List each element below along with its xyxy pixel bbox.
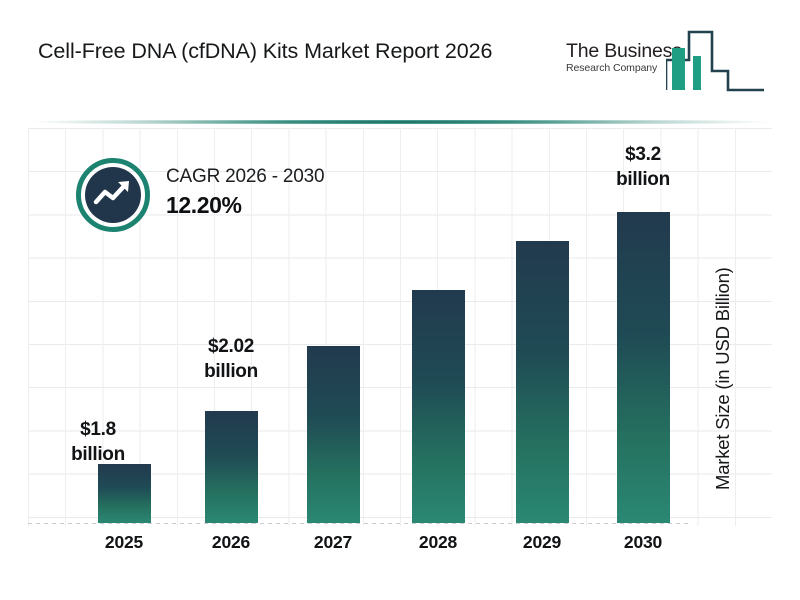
cagr-value-label: 12.20% (166, 190, 324, 220)
bar-fill (98, 464, 151, 523)
bar-value-label: $3.2 billion (588, 142, 698, 192)
bar-value-label-line1: $3.2 (625, 144, 661, 165)
table-row[interactable] (205, 411, 258, 523)
bar-fill (412, 290, 465, 523)
chart-page: Cell-Free DNA (cfDNA) Kits Market Report… (0, 0, 800, 600)
x-axis-tick-2025: 2025 (69, 532, 179, 553)
table-row[interactable] (307, 346, 360, 523)
bar-fill (617, 212, 670, 523)
bar-value-label-line2: billion (204, 361, 258, 382)
bar-value-label-line1: $2.02 (208, 336, 254, 357)
table-row[interactable] (98, 464, 151, 523)
bar-series: $1.8 billion 2025 $2.02 billion 2026 202… (0, 0, 800, 600)
cagr-text-block: CAGR 2026 - 2030 12.20% (166, 164, 324, 220)
bar-fill (307, 346, 360, 523)
table-row[interactable] (516, 241, 569, 523)
bar-value-label-line1: $1.8 (80, 419, 116, 440)
x-axis-tick-2027: 2027 (278, 532, 388, 553)
table-row[interactable] (617, 212, 670, 523)
trending-up-icon (76, 158, 150, 232)
table-row[interactable] (412, 290, 465, 523)
bar-fill (205, 411, 258, 523)
x-axis-tick-2026: 2026 (176, 532, 286, 553)
bar-value-label: $2.02 billion (176, 334, 286, 384)
x-axis-tick-2030: 2030 (588, 532, 698, 553)
cagr-range-label: CAGR 2026 - 2030 (166, 164, 324, 190)
x-axis-tick-2029: 2029 (487, 532, 597, 553)
bar-value-label-line2: billion (616, 169, 670, 190)
bar-fill (516, 241, 569, 523)
x-axis-tick-2028: 2028 (383, 532, 493, 553)
y-axis-title: Market Size (in USD Billion) (712, 267, 734, 490)
bar-value-label: $1.8 billion (43, 417, 153, 467)
bar-value-label-line2: billion (71, 444, 125, 465)
